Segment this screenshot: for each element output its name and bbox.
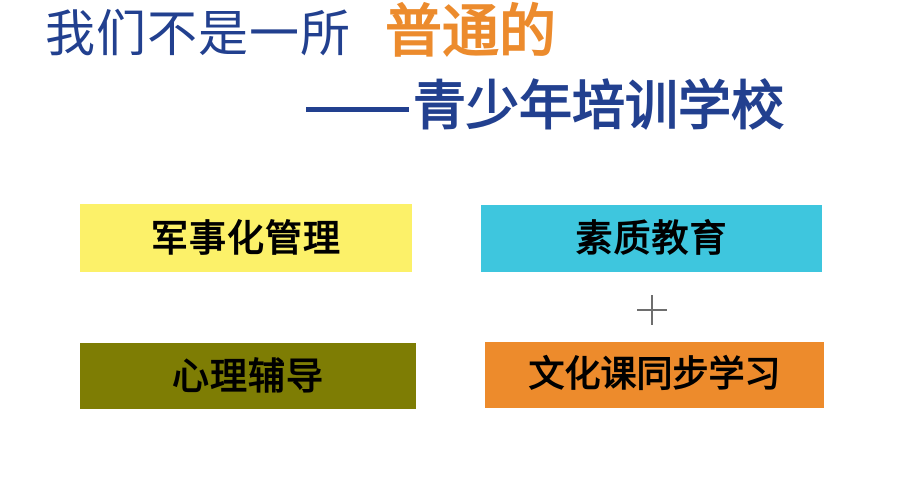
feature-label: 军事化管理 — [151, 220, 341, 257]
feature-box-academic-sync-study: 文化课同步学习 — [485, 342, 824, 408]
headline-subtitle-text: 青少年培训学校 — [413, 80, 784, 133]
headline-accent-text: 普通的 — [385, 4, 556, 61]
em-dash-rule — [306, 107, 409, 112]
feature-box-quality-education: 素质教育 — [481, 205, 822, 272]
promotional-poster: 我们不是一所 普通的 青少年培训学校 军事化管理 素质教育 心理辅导 文化课同步… — [0, 0, 900, 478]
headline-primary-text: 我们不是一所 — [45, 9, 351, 59]
feature-box-psychological-counseling: 心理辅导 — [80, 343, 416, 409]
headline-line-2: 青少年培训学校 — [306, 80, 784, 133]
headline-line-1: 我们不是一所 普通的 — [45, 4, 556, 61]
plus-icon-vertical-bar — [651, 295, 653, 325]
feature-label: 文化课同步学习 — [528, 357, 780, 393]
feature-label: 素质教育 — [576, 220, 728, 257]
feature-box-military-management: 军事化管理 — [80, 204, 412, 272]
plus-icon — [637, 295, 667, 325]
feature-label: 心理辅导 — [172, 358, 324, 395]
headline-block: 我们不是一所 普通的 青少年培训学校 — [0, 0, 900, 160]
